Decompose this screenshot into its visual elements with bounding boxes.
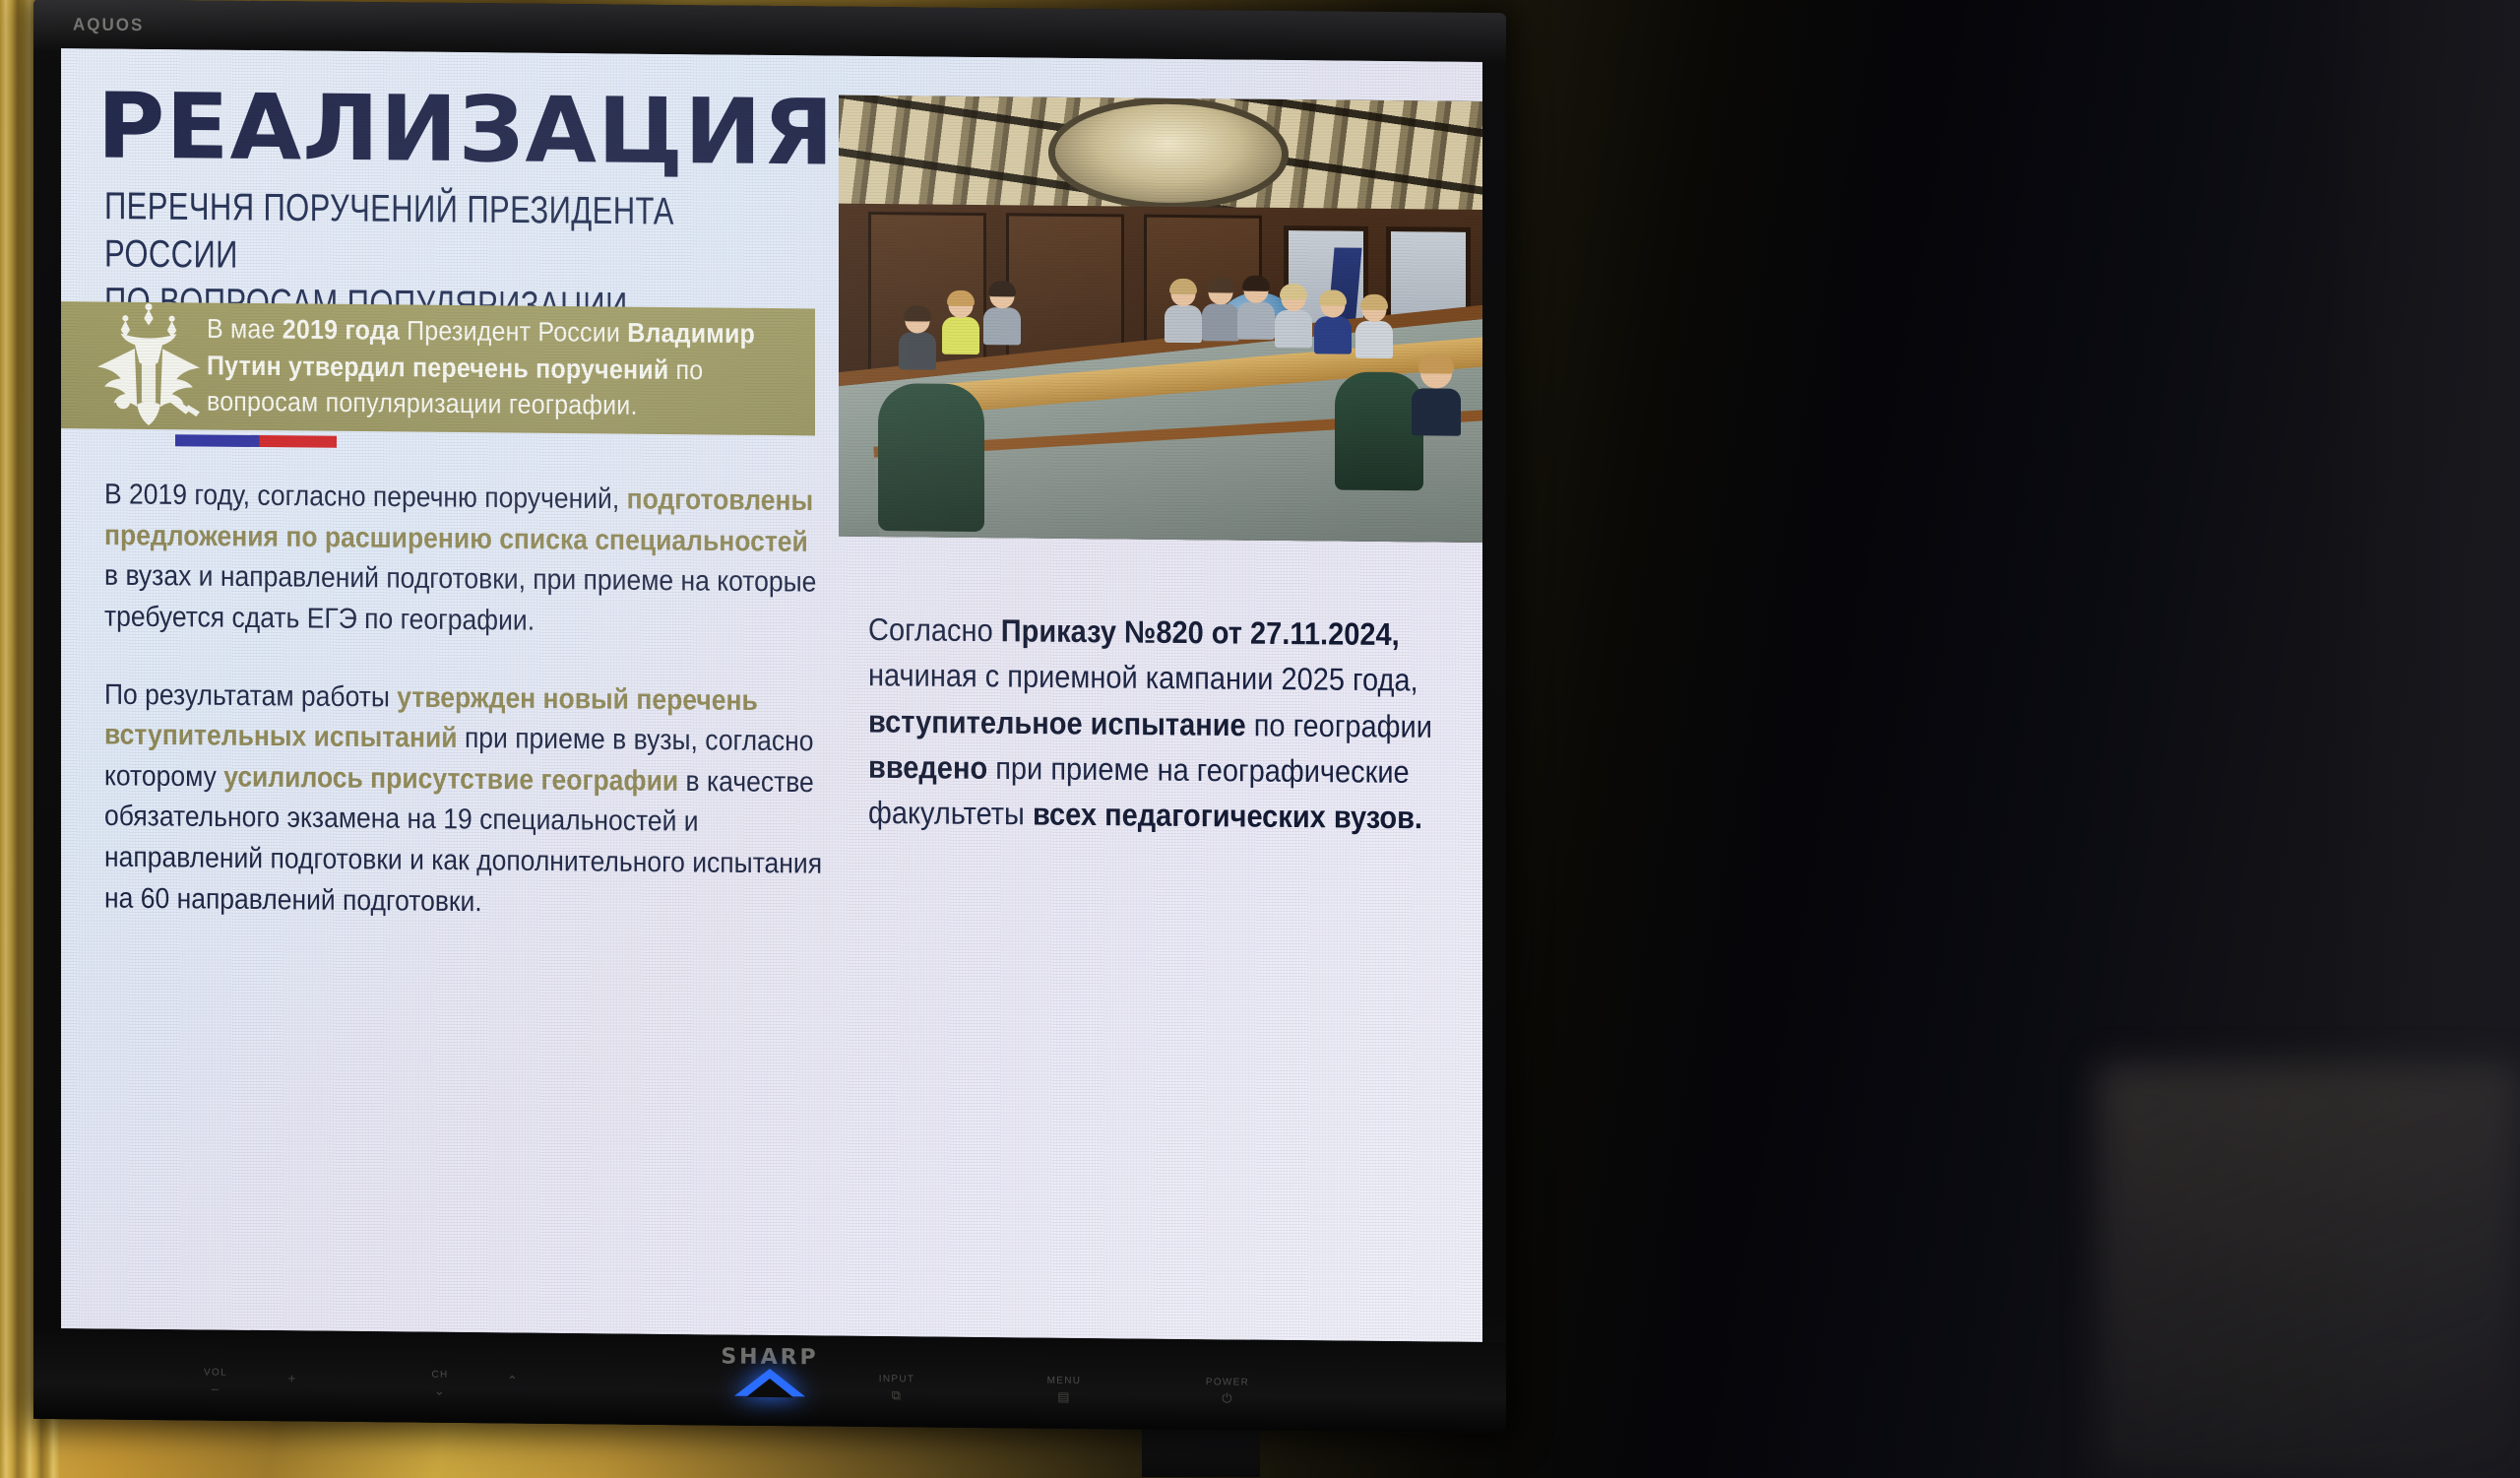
russian-coat-of-arms-icon xyxy=(91,301,207,430)
input-icon: ⧉ xyxy=(862,1387,931,1404)
rb-bold-universities: всех педагогических вузов. xyxy=(1033,798,1422,836)
sharp-aquos-television: AQUOS РЕАЛИЗАЦИЯ ПЕРЕЧНЯ ПОРУЧЕНИЙ ПРЕЗИ… xyxy=(33,0,1506,1433)
banner-part-1: В мае xyxy=(207,314,283,346)
ch-label: CH xyxy=(431,1370,448,1381)
subtitle-line-1: ПЕРЕЧНЯ ПОРУЧЕНИЙ ПРЕЗИДЕНТА РОССИИ xyxy=(104,183,789,285)
president-order-banner: В мае 2019 года Президент России Владими… xyxy=(61,301,815,435)
tv-bezel: AQUOS РЕАЛИЗАЦИЯ ПЕРЕЧНЯ ПОРУЧЕНИЙ ПРЕЗИ… xyxy=(33,0,1506,1433)
photo-chair xyxy=(878,383,984,532)
chevron-up-icon: ⌃ xyxy=(478,1373,547,1389)
dark-curtain xyxy=(2323,0,2520,1478)
menu-label: MENU xyxy=(1047,1376,1082,1386)
right-body-text: Согласно Приказу №820 от 27.11.2024, нач… xyxy=(868,608,1459,843)
channel-up-button[interactable]: ⌃ xyxy=(478,1370,547,1389)
paragraph-1: В 2019 году, согласно перечню поручений,… xyxy=(104,475,823,645)
p1-b: в вузах и направлений подготовки, при пр… xyxy=(104,559,816,637)
photo-person xyxy=(982,284,1022,345)
rb-bold-introduced: введено xyxy=(868,750,987,786)
photo-person xyxy=(1313,292,1353,353)
rb-bold-exam: вступительное испытание xyxy=(868,705,1246,743)
volume-up-button[interactable]: + xyxy=(258,1368,327,1386)
power-indicator-chevron xyxy=(734,1369,805,1397)
rb-b: начиная с приемной кампании 2025 года, xyxy=(868,659,1418,699)
input-button[interactable]: INPUT ⧉ xyxy=(862,1374,931,1404)
photo-person xyxy=(1354,297,1394,358)
aquos-logo: AQUOS xyxy=(73,15,144,36)
tv-screen: РЕАЛИЗАЦИЯ ПЕРЕЧНЯ ПОРУЧЕНИЙ ПРЕЗИДЕНТА … xyxy=(61,48,1482,1342)
plus-icon: + xyxy=(258,1371,327,1386)
rb-c: по географии xyxy=(1246,708,1432,744)
p2-a: По результатам работы xyxy=(104,677,397,713)
p2-highlight-2: усилилось присутствие географии xyxy=(223,760,678,797)
photo-person xyxy=(1201,280,1240,341)
menu-button[interactable]: MENU ▤ xyxy=(1030,1376,1099,1406)
photo-person xyxy=(1164,282,1203,343)
p1-a: В 2019 году, согласно перечню поручений, xyxy=(104,478,627,515)
power-button[interactable]: POWER ⏻ xyxy=(1193,1377,1262,1407)
rb-bold-order: Приказу №820 от 27.11.2024, xyxy=(1001,614,1400,653)
banner-part-2: Президент России xyxy=(400,316,627,349)
power-icon: ⏻ xyxy=(1193,1390,1262,1407)
minus-icon: – xyxy=(181,1381,250,1396)
banner-bold-year: 2019 года xyxy=(283,315,400,347)
channel-down-button[interactable]: CH ⌄ xyxy=(406,1369,474,1399)
power-label: POWER xyxy=(1206,1377,1249,1387)
page-title: РЕАЛИЗАЦИЯ xyxy=(97,84,841,176)
photo-person xyxy=(1410,356,1463,436)
left-body-text: В 2019 году, согласно перечню поручений,… xyxy=(104,475,823,926)
chevron-down-icon: ⌄ xyxy=(406,1382,474,1399)
tv-control-panel: SHARP VOL – + CH ⌄ ⌃ xyxy=(33,1328,1506,1433)
meeting-room-photo xyxy=(839,96,1482,543)
russian-flag-accent-bar xyxy=(175,434,337,448)
paragraph-2: По результатам работы утвержден новый пе… xyxy=(104,674,823,925)
conference-room-background: AQUOS РЕАЛИЗАЦИЯ ПЕРЕЧНЯ ПОРУЧЕНИЙ ПРЕЗИ… xyxy=(0,0,2520,1478)
rb-a: Согласно xyxy=(868,612,1001,648)
photo-person xyxy=(1274,287,1313,348)
sharp-logo: SHARP xyxy=(721,1345,818,1371)
banner-text: В мае 2019 года Президент России Владими… xyxy=(207,312,815,426)
input-label: INPUT xyxy=(879,1374,915,1384)
photo-person xyxy=(898,308,937,369)
menu-icon: ▤ xyxy=(1030,1389,1099,1406)
volume-down-button[interactable]: VOL – xyxy=(181,1367,250,1396)
photo-person xyxy=(1236,279,1276,340)
presentation-slide: РЕАЛИЗАЦИЯ ПЕРЕЧНЯ ПОРУЧЕНИЙ ПРЕЗИДЕНТА … xyxy=(61,48,1482,1342)
vol-label: VOL xyxy=(204,1367,227,1378)
photo-person xyxy=(941,293,980,354)
